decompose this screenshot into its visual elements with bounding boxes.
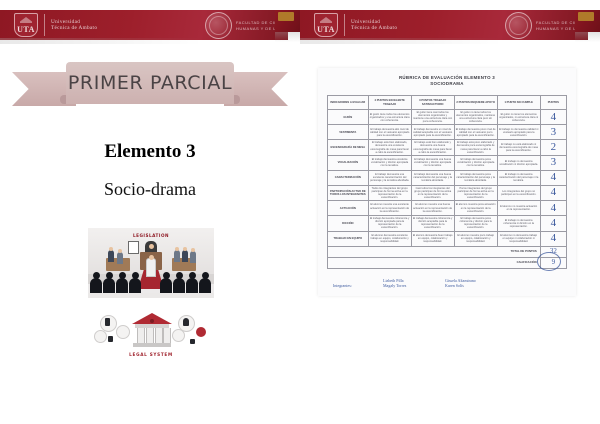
uta-header-bar: UTA Universidad Técnica de Ambato FACULT… xyxy=(300,10,588,40)
court-person-icon xyxy=(108,250,114,262)
university-name-line2: Técnica de Ambato xyxy=(51,25,97,31)
uta-shield-logo: UTA xyxy=(314,13,338,37)
rubric-level-2: El guión no tiene todos los elementos or… xyxy=(454,110,497,125)
rubric-level-4: El trabajo demuestra coherencia y dicció… xyxy=(368,216,411,231)
rubric-score: 4 xyxy=(540,231,566,246)
slide-right: UTA Universidad Técnica de Ambato FACULT… xyxy=(300,0,600,424)
rubric-header-row: INDICADORES A EVALUAR 4 PUNTOS EXCELENTE… xyxy=(328,96,567,110)
rubric-col-header: INDICADORES A EVALUAR xyxy=(328,96,369,110)
rubric-level-2: El trabajo está poco elaborado y demuest… xyxy=(454,140,497,155)
ribbon-center-panel: PRIMER PARCIAL xyxy=(66,62,234,104)
primer-parcial-ribbon: PRIMER PARCIAL xyxy=(12,62,288,114)
header-badge xyxy=(578,12,594,21)
table-row: VOCALIZACIÓN El trabajo demuestra excele… xyxy=(328,155,567,170)
rubric-col-header: PUNTOS xyxy=(540,96,566,110)
rubric-criterion: ESCENOGRAFÍA DE MESA xyxy=(328,140,369,155)
rubric-score: 3 xyxy=(540,155,566,170)
officer-figure-icon xyxy=(183,318,189,326)
handwritten-names-col1: Lizbeth Pilla Magaly Torres xyxy=(383,278,406,288)
rubric-level-2: El trabajo demuestra poca coherencia y d… xyxy=(454,216,497,231)
rubric-level-3: El trabajo demuestra un nivel de calidad… xyxy=(411,125,454,140)
table-row: VESTIMENTA El trabajo demuestra alto niv… xyxy=(328,125,567,140)
rubric-level-2: Pocos integrantes del grupo participan d… xyxy=(454,185,497,200)
grade-label: CALIFICACIÓN xyxy=(328,257,541,268)
courtroom-illustration: LEGISLATION xyxy=(88,228,214,298)
scales-icon xyxy=(94,330,107,343)
rubric-level-2: El alumno muestra poco trabajo en equipo… xyxy=(454,231,497,246)
university-name-line2: Técnica de Ambato xyxy=(351,25,397,31)
header-badge xyxy=(278,12,294,21)
court-person-icon xyxy=(117,252,123,264)
rubric-level-4: El alumno demuestra excelente trabajo en… xyxy=(368,231,411,246)
rubric-level-1: El trabajo no demuestra caracterización … xyxy=(497,170,540,185)
rubric-level-3: El alumno demuestra buen trabajo en equi… xyxy=(411,231,454,246)
gavel-icon xyxy=(172,329,185,342)
grade-circle-annotation xyxy=(537,252,561,271)
rubric-level-3: El alumno muestra una buena actuación en… xyxy=(411,201,454,216)
rubric-level-2: El trabajo demuestra poco nivel de calid… xyxy=(454,125,497,140)
rubric-content: RÚBRICA DE EVALUACIÓN ELEMENTO 3 SOCIODR… xyxy=(327,75,567,289)
seal-inner-ring xyxy=(209,16,228,35)
rubric-level-1: El trabajo no demuestra vocalización ni … xyxy=(497,155,540,170)
header-divider xyxy=(344,14,345,36)
courthouse-roof-emblem xyxy=(150,319,154,323)
rubric-level-4: El alumno muestra una excelente actuació… xyxy=(368,201,411,216)
table-row: DICCIÓN El trabajo demuestra coherencia … xyxy=(328,216,567,231)
courthouse-icon xyxy=(135,313,169,346)
rubric-level-3: El trabajo demuestra una buena caracteri… xyxy=(411,170,454,185)
element-title: Elemento 3 xyxy=(0,141,300,163)
uta-header-bar: UTA Universidad Técnica de Ambato FACULT… xyxy=(0,10,288,40)
header-divider xyxy=(44,14,45,36)
rubric-level-2: El trabajo demuestra poca vocalización y… xyxy=(454,155,497,170)
rubric-level-3: El guión tiene casi todos los elementos … xyxy=(411,110,454,125)
table-row: GUIÓN El guión tiene todos los elementos… xyxy=(328,110,567,125)
rubric-level-4: El trabajo está bien elaborado, demuestr… xyxy=(368,140,411,155)
rubric-score: 4 xyxy=(540,216,566,231)
rubric-level-1: El trabajo no demuestra calidad ni vestu… xyxy=(497,125,540,140)
seal-badge-icon xyxy=(196,327,206,337)
handcuffs-icon xyxy=(190,339,195,344)
rubric-level-2: El trabajo demuestra poca caracterizació… xyxy=(454,170,497,185)
rubric-level-3: El trabajo demuestra coherencia y dicció… xyxy=(411,216,454,231)
rubric-score: 4 xyxy=(540,110,566,125)
rubric-level-1: El alumno no demuestra trabajo en equipo… xyxy=(497,231,540,246)
illustration-bottom-strip xyxy=(88,293,214,298)
rubric-level-4: El trabajo demuestra alto nivel de calid… xyxy=(368,125,411,140)
rubric-level-4: El trabajo demuestra una excelente carac… xyxy=(368,170,411,185)
courthouse-column xyxy=(137,328,145,343)
rubric-level-2: El alumno muestra poca actuación en la r… xyxy=(454,201,497,216)
header-corner-shadow xyxy=(575,32,600,42)
faculty-seal-icon xyxy=(505,12,532,39)
rubric-col-header: 2 PUNTOS REQUIERE APOYO xyxy=(454,96,497,110)
seal-inner-ring xyxy=(509,16,528,35)
rubric-scan-document: RÚBRICA DE EVALUACIÓN ELEMENTO 3 SOCIODR… xyxy=(318,68,576,296)
courthouse-base xyxy=(133,343,171,347)
table-row: TRABAJO EN EQUIPO El alumno demuestra ex… xyxy=(328,231,567,246)
rubric-criterion: ACTUACIÓN xyxy=(328,201,369,216)
rubric-col-header: 1 PUNTO NO CUMPLE xyxy=(497,96,540,110)
table-row: ACTUACIÓN El alumno muestra una excelent… xyxy=(328,201,567,216)
header-corner-shadow xyxy=(275,32,300,42)
rubric-criterion: PARTICIPACIÓN ACTIVA DE TODOS LOS INTEGR… xyxy=(328,185,369,200)
rubric-score: 4 xyxy=(540,170,566,185)
court-emblem-icon xyxy=(128,241,139,254)
rubric-score: 4 xyxy=(540,201,566,216)
rubric-level-3: Casi todos los integrantes del grupo par… xyxy=(411,185,454,200)
rubric-score: 2 xyxy=(540,140,566,155)
rubric-criterion: DICCIÓN xyxy=(328,216,369,231)
rubric-criterion: GUIÓN xyxy=(328,110,369,125)
rubric-level-3: El trabajo demuestra una buena vocalizac… xyxy=(411,155,454,170)
rubric-body: GUIÓN El guión tiene todos los elementos… xyxy=(328,110,567,269)
courthouse-column xyxy=(146,328,154,343)
uta-logo-text: UTA xyxy=(314,25,338,34)
handwritten-names-col2: Gissela Altamirano Karen Solís xyxy=(445,278,476,288)
rubric-level-3: El trabajo está bien elaborado y demuest… xyxy=(411,140,454,155)
rubric-criterion: CARACTERIZACIÓN xyxy=(328,170,369,185)
rubric-col-header: 4 PUNTOS EXCELENTE TRABAJO xyxy=(368,96,411,110)
rubric-level-4: El trabajo demuestra excelente vocalizac… xyxy=(368,155,411,170)
rubric-score: 3 xyxy=(540,125,566,140)
court-person-icon xyxy=(182,250,188,262)
legislation-caption: LEGISLATION xyxy=(88,233,214,238)
legal-system-caption: LEGAL SYSTEM xyxy=(88,352,214,357)
rubric-criterion: TRABAJO EN EQUIPO xyxy=(328,231,369,246)
legal-system-illustration: LEGAL SYSTEM xyxy=(88,305,214,362)
court-person-icon xyxy=(190,251,196,263)
table-row: ESCENOGRAFÍA DE MESA El trabajo está bie… xyxy=(328,140,567,155)
uta-logo-text: UTA xyxy=(14,25,38,34)
judge-figure-icon xyxy=(149,244,154,249)
courthouse-column xyxy=(155,328,163,343)
court-person-icon xyxy=(174,250,180,262)
ribbon-label: PRIMER PARCIAL xyxy=(68,72,232,94)
courthouse-column xyxy=(163,328,171,343)
rubric-grade-row: CALIFICACIÓN 9 xyxy=(328,257,567,268)
total-points-label: TOTAL DE PUNTOS xyxy=(328,246,541,257)
prison-window-icon xyxy=(105,318,110,326)
rubric-score: 4 xyxy=(540,185,566,200)
rubric-total-row: TOTAL DE PUNTOS 32 xyxy=(328,246,567,257)
rubric-level-1: El alumno no muestra actuación en la rep… xyxy=(497,201,540,216)
briefcase-icon xyxy=(108,336,113,342)
rubric-table: INDICADORES A EVALUAR 4 PUNTOS EXCELENTE… xyxy=(327,95,567,269)
document-icon xyxy=(116,325,130,339)
university-name: Universidad Técnica de Ambato xyxy=(51,19,97,31)
element-subtitle: Socio-drama xyxy=(0,179,300,200)
rubric-level-1: El guión no tiene los elementos organiza… xyxy=(497,110,540,125)
university-name: Universidad Técnica de Ambato xyxy=(351,19,397,31)
rubric-col-header: 3 PUNTOS TRABAJO SATISFACTORIO xyxy=(411,96,454,110)
rubric-title-line2: SOCIODRAMA xyxy=(327,81,567,87)
rubric-level-4: El guión tiene todos los elementos organ… xyxy=(368,110,411,125)
table-row: PARTICIPACIÓN ACTIVA DE TODOS LOS INTEGR… xyxy=(328,185,567,200)
table-row: CARACTERIZACIÓN El trabajo demuestra una… xyxy=(328,170,567,185)
handwritten-label: Integrantes: xyxy=(333,283,352,288)
uta-shield-logo: UTA xyxy=(14,13,38,37)
rubric-level-1: El trabajo no está elaborado ni demuestr… xyxy=(497,140,540,155)
rubric-criterion: VOCALIZACIÓN xyxy=(328,155,369,170)
rubric-level-1: El trabajo no demuestra coherencia ni di… xyxy=(497,216,540,231)
rubric-title: RÚBRICA DE EVALUACIÓN ELEMENTO 3 SOCIODR… xyxy=(327,75,567,87)
rubric-level-1: Los integrantes del grupo no participan … xyxy=(497,185,540,200)
faculty-seal-icon xyxy=(205,12,232,39)
rubric-level-4: Todos los integrantes del grupo particip… xyxy=(368,185,411,200)
rubric-criterion: VESTIMENTA xyxy=(328,125,369,140)
courtroom-audience xyxy=(88,272,214,294)
slide-left: UTA Universidad Técnica de Ambato FACULT… xyxy=(0,0,300,424)
